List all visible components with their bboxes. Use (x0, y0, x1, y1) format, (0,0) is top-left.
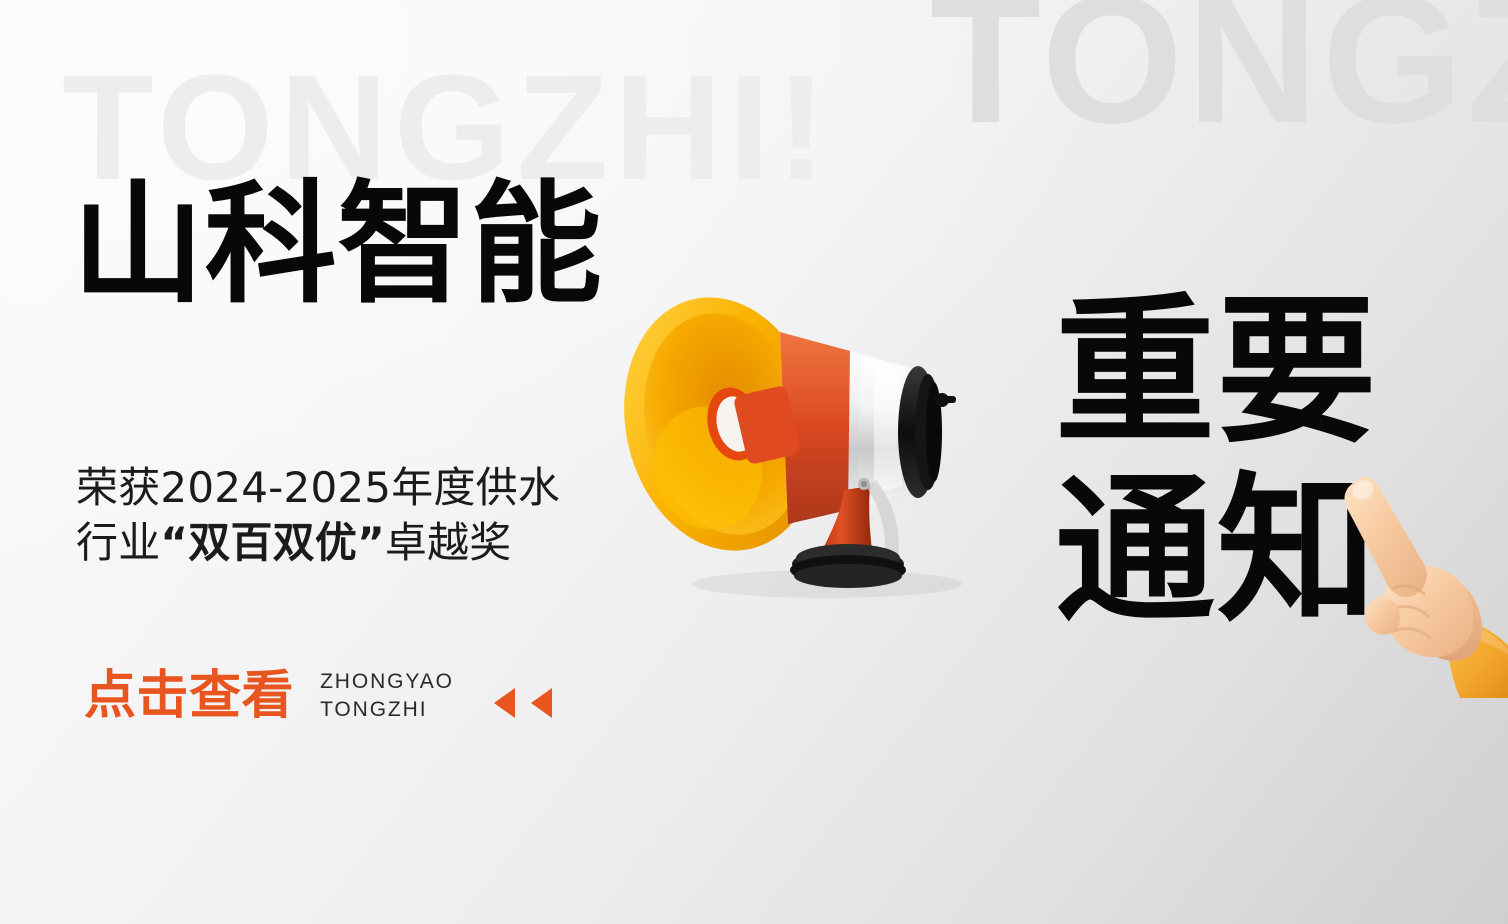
award-subtitle-prefix: 行业 (76, 518, 160, 567)
cta-button[interactable]: 点击查看 (84, 670, 294, 722)
award-subtitle-quoted: “双百双优” (160, 518, 384, 567)
megaphone-icon (612, 272, 1012, 602)
notice-heading-line1: 重要 (1055, 282, 1378, 461)
page-title: 山科智能 (72, 178, 603, 313)
cta-pinyin-line1: ZHONGYAO (320, 668, 454, 696)
notice-heading: 重要 通知 (1055, 282, 1378, 640)
triangle-left-icon (531, 688, 552, 718)
notice-heading-line2: 通知 (1055, 461, 1378, 640)
watermark-secondary: TONGZHI (930, 0, 1508, 150)
cta-arrow-group (494, 674, 552, 718)
promo-banner: TONGZHI TONGZHI! 山科智能 荣获2024-2025年度供水 行业… (0, 0, 1508, 924)
award-subtitle-line1: 荣获2024-2025年度供水 (76, 460, 560, 515)
award-subtitle-line2: 行业“双百双优”卓越奖 (76, 515, 560, 570)
cta-pinyin: ZHONGYAO TONGZHI (320, 668, 454, 725)
pointing-hand-icon (1332, 468, 1508, 698)
award-subtitle: 荣获2024-2025年度供水 行业“双百双优”卓越奖 (76, 460, 560, 571)
cta-group[interactable]: 点击查看 ZHONGYAO TONGZHI (84, 668, 552, 725)
award-subtitle-suffix: 卓越奖 (385, 518, 512, 567)
triangle-left-icon (494, 688, 515, 718)
cta-pinyin-line2: TONGZHI (320, 696, 454, 724)
